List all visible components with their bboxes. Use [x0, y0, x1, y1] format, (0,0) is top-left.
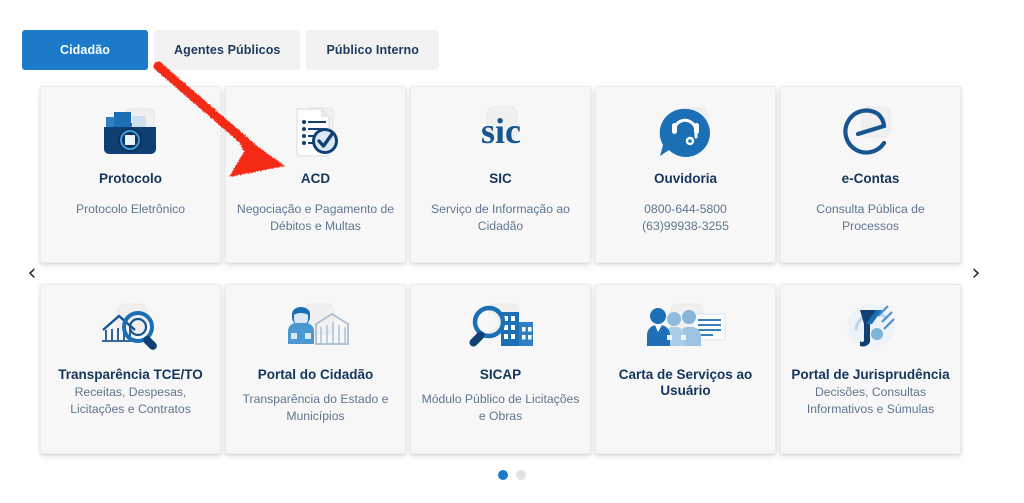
carousel-prev-icon[interactable]: ‹	[18, 258, 46, 288]
headset-chat-icon	[649, 103, 723, 165]
card-e-contas-subtitle: Consulta Pública de Processos	[781, 201, 960, 236]
card-sic-title: SIC	[483, 171, 518, 187]
card-sicap[interactable]: SICAP Módulo Público de Licitações e Obr…	[410, 284, 591, 454]
card-transparencia-tceto-subtitle: Receitas, Despesas, Licitações e Contrat…	[41, 384, 220, 419]
card-acd[interactable]: ACD Negociação e Pagamento de Débitos e …	[225, 86, 406, 263]
people-card-icon	[643, 299, 729, 361]
tab-cidadao[interactable]: Cidadão	[22, 30, 148, 70]
building-magnifier-icon	[91, 299, 171, 361]
card-transparencia-tceto-title: Transparência TCE/TO	[52, 367, 209, 383]
sic-logo-icon: sic	[461, 103, 541, 165]
carousel-pagination	[0, 470, 1024, 480]
document-check-icon	[279, 103, 353, 165]
card-portal-do-cidadao-subtitle: Transparência do Estado e Municípios	[226, 391, 405, 426]
chevron-right-icon: ›	[971, 262, 980, 285]
card-ouvidoria-title: Ouvidoria	[648, 171, 723, 187]
citizen-building-icon	[276, 299, 356, 361]
tab-publico-interno-label: Público Interno	[326, 43, 418, 57]
svg-text:sic: sic	[481, 111, 521, 151]
carousel-next-icon[interactable]: ›	[962, 258, 990, 288]
chevron-left-icon: ‹	[27, 262, 36, 285]
card-portal-de-jurisprudencia-title: Portal de Jurisprudência	[785, 367, 955, 383]
card-sic-subtitle: Serviço de Informação ao Cidadão	[411, 201, 590, 236]
card-sicap-title: SICAP	[474, 367, 527, 383]
e-logo-icon	[834, 103, 908, 165]
card-portal-do-cidadao[interactable]: Portal do Cidadão Transparência do Estad…	[225, 284, 406, 454]
folder-icon	[94, 103, 168, 165]
card-protocolo-title: Protocolo	[93, 171, 168, 187]
card-row-1: Protocolo Protocolo Eletrônico	[40, 86, 961, 263]
tab-publico-interno[interactable]: Público Interno	[306, 30, 438, 70]
card-protocolo[interactable]: Protocolo Protocolo Eletrônico	[40, 86, 221, 263]
card-portal-do-cidadao-title: Portal do Cidadão	[252, 367, 380, 383]
service-card-grid: Protocolo Protocolo Eletrônico	[40, 86, 948, 454]
tab-agentes-publicos-label: Agentes Públicos	[174, 43, 280, 57]
card-transparencia-tceto[interactable]: Transparência TCE/TO Receitas, Despesas,…	[40, 284, 221, 454]
jurisprudence-icon	[834, 299, 908, 361]
card-portal-de-jurisprudencia[interactable]: Portal de Jurisprudência Decisões, Consu…	[780, 284, 961, 454]
tab-agentes-publicos[interactable]: Agentes Públicos	[154, 30, 300, 70]
card-ouvidoria[interactable]: Ouvidoria 0800-644-5800 (63)99938-3255	[595, 86, 776, 263]
service-portal-carousel: Cidadão Agentes Públicos Público Interno…	[0, 0, 1024, 503]
card-sicap-subtitle: Módulo Público de Licitações e Obras	[411, 391, 590, 426]
card-acd-title: ACD	[295, 171, 336, 187]
card-e-contas-title: e-Contas	[836, 171, 906, 187]
card-acd-subtitle: Negociação e Pagamento de Débitos e Mult…	[226, 201, 405, 236]
card-e-contas[interactable]: e-Contas Consulta Pública de Processos	[780, 86, 961, 263]
carousel-dot-1[interactable]	[498, 470, 508, 480]
card-row-2: Transparência TCE/TO Receitas, Despesas,…	[40, 284, 961, 454]
tab-cidadao-label: Cidadão	[60, 43, 110, 57]
card-carta-de-servicos-title: Carta de Serviços ao Usuário	[596, 367, 775, 399]
card-carta-de-servicos[interactable]: Carta de Serviços ao Usuário	[595, 284, 776, 454]
card-ouvidoria-phones: 0800-644-5800 (63)99938-3255	[632, 201, 739, 236]
carousel-dot-2[interactable]	[516, 470, 526, 480]
card-protocolo-subtitle: Protocolo Eletrônico	[66, 201, 195, 218]
card-portal-de-jurisprudencia-subtitle: Decisões, Consultas Informativos e Súmul…	[781, 384, 960, 419]
magnifier-buildings-icon	[461, 299, 541, 361]
card-sic[interactable]: sic SIC Serviço de Informação ao Cidadão	[410, 86, 591, 263]
audience-tabs: Cidadão Agentes Públicos Público Interno	[22, 30, 439, 70]
